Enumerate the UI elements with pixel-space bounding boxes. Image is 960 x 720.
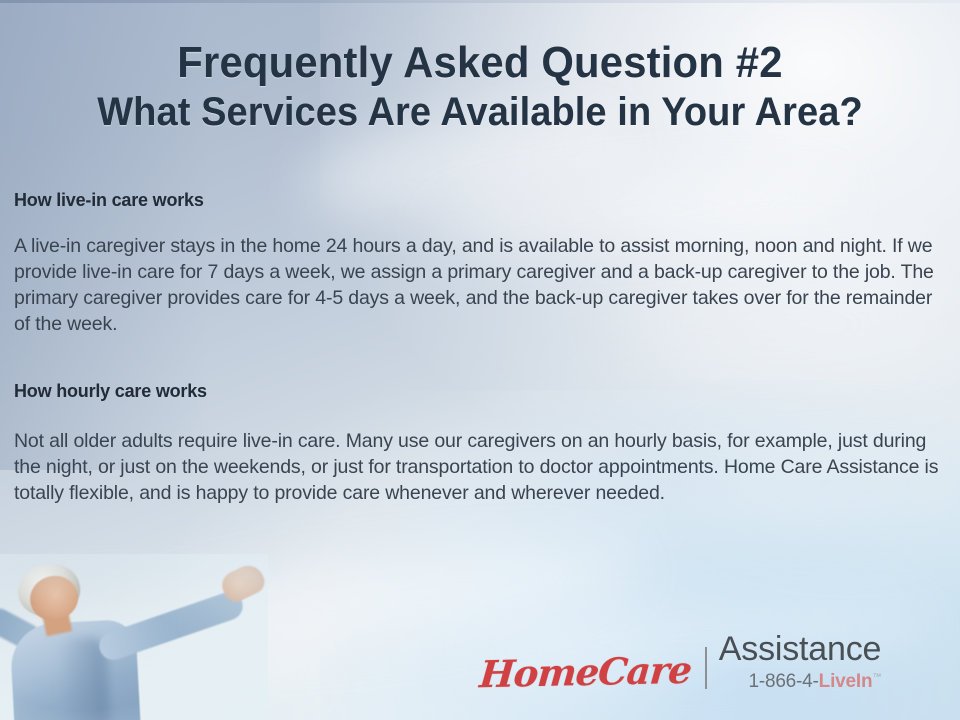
section-heading-hourly: How hourly care works — [14, 381, 942, 402]
section-heading-live-in: How live-in care works — [14, 190, 942, 211]
slide-title-block: Frequently Asked Question #2 What Servic… — [0, 40, 960, 134]
slide-title-primary: Frequently Asked Question #2 — [24, 40, 936, 86]
logo-phone-number: 1-866-4-LiveIn™ — [748, 672, 881, 691]
logo-row: HomeCare Assistance 1-866-4-LiveIn™ — [480, 632, 950, 691]
slide-body: How live-in care works A live-in caregiv… — [14, 190, 942, 506]
home-care-assistance-logo: HomeCare Assistance 1-866-4-LiveIn™ — [480, 632, 950, 710]
section-paragraph-hourly: Not all older adults require live-in car… — [14, 428, 942, 506]
logo-brand-script: HomeCare — [478, 652, 692, 693]
photo-soft-edge — [0, 554, 268, 720]
logo-divider — [705, 647, 707, 689]
section-paragraph-live-in: A live-in caregiver stays in the home 24… — [14, 233, 942, 337]
trademark-icon: ™ — [872, 672, 881, 682]
slide-top-edge — [0, 0, 960, 3]
presentation-slide: Frequently Asked Question #2 What Servic… — [0, 0, 960, 720]
slide-title-secondary: What Services Are Available in Your Area… — [24, 90, 936, 134]
logo-phone-prefix: 1-866-4- — [748, 671, 818, 692]
logo-text-group: Assistance 1-866-4-LiveIn™ — [719, 632, 881, 691]
logo-phone-suffix: LiveIn — [819, 671, 873, 692]
logo-brand-word: Assistance — [719, 632, 881, 666]
elderly-woman-photo — [0, 554, 268, 720]
